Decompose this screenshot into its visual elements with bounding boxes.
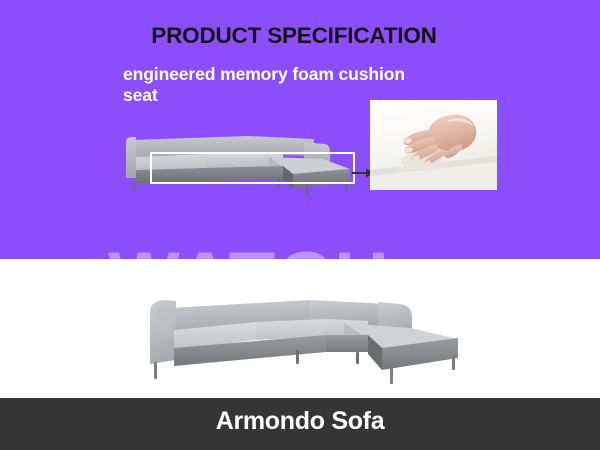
- product-specification-slide: WATCH PRODUCT SPECIFICATION engineered m…: [0, 0, 600, 450]
- page-title: PRODUCT SPECIFICATION: [124, 24, 464, 48]
- memory-foam-photo: [370, 100, 497, 190]
- purple-header-panel: WATCH PRODUCT SPECIFICATION engineered m…: [0, 0, 600, 259]
- watermark-purple-sliver: WATCH: [0, 250, 600, 259]
- bottom-sofa-image: [128, 278, 480, 388]
- watermark-line-1-purple: WATCH: [108, 250, 600, 259]
- product-name-label: Armondo Sofa: [0, 408, 600, 436]
- highlight-rectangle-icon: [150, 152, 355, 184]
